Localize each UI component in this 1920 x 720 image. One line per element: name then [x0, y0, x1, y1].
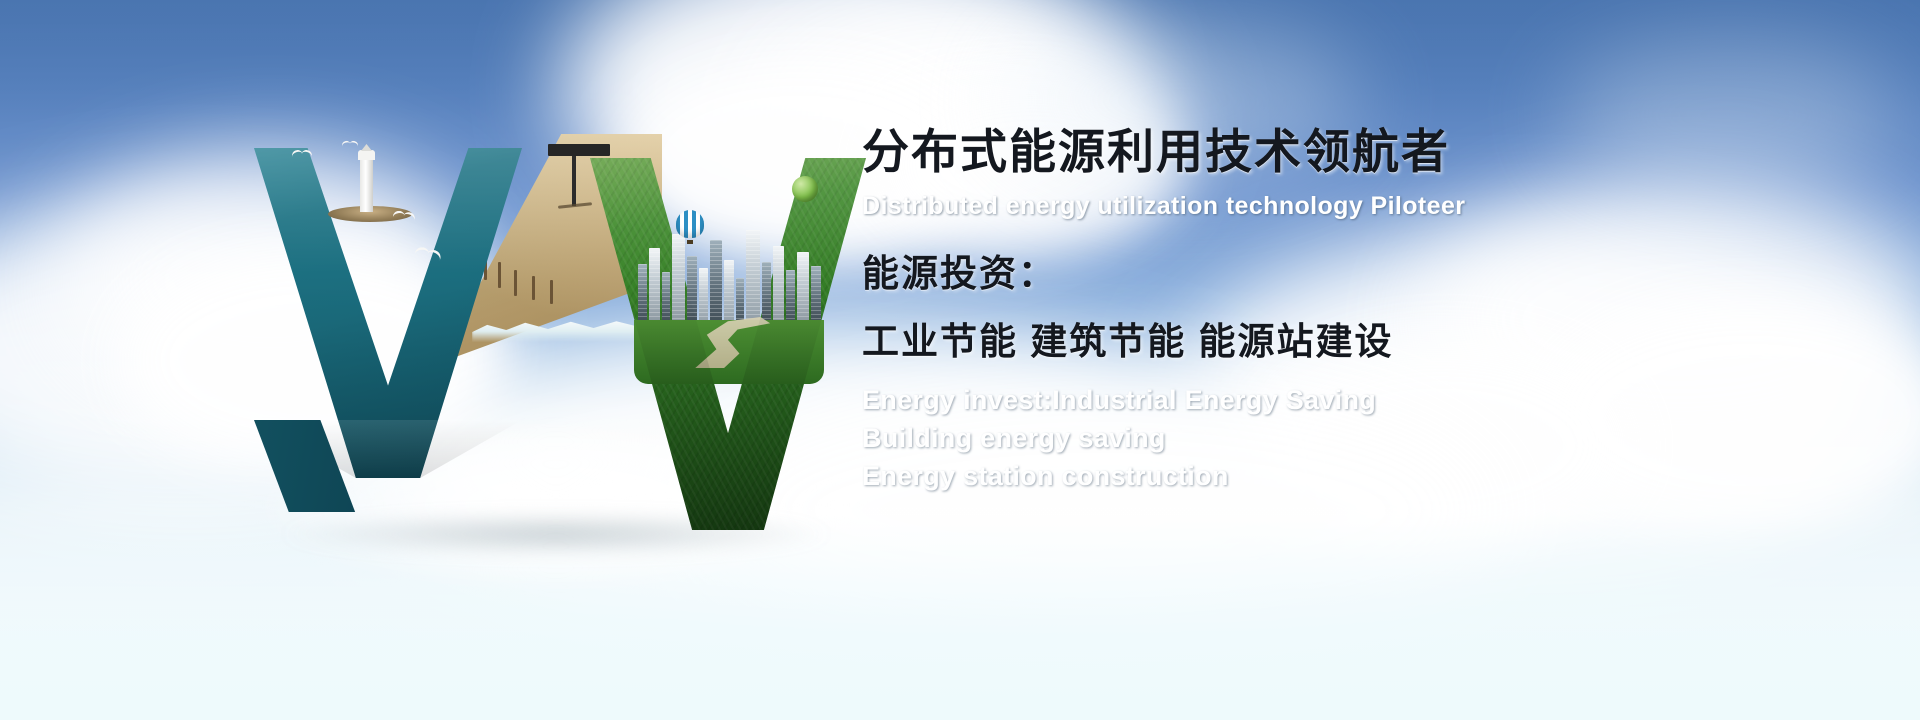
building: [736, 278, 744, 326]
fence-post: [514, 270, 517, 296]
services-english-list: Energy invest:Industrial Energy Saving B…: [862, 381, 1882, 496]
building: [746, 230, 760, 326]
services-english-line: Energy invest:Industrial Energy Saving: [862, 381, 1882, 419]
fence-post: [498, 262, 501, 288]
banner-copy: 分布式能源利用技术领航者 Distributed energy utilizat…: [862, 126, 1882, 496]
section-label: 能源投资：: [862, 243, 1882, 297]
building: [724, 260, 734, 326]
signpost-board: [548, 144, 610, 156]
building: [710, 240, 722, 326]
services-chinese: 工业节能 建筑节能 能源站建设: [862, 311, 1882, 365]
signpost-pole: [572, 148, 576, 206]
hero-banner: 分布式能源利用技术领航者 Distributed energy utilizat…: [0, 0, 1920, 720]
seagull-icon: [392, 210, 415, 223]
seagull-icon: [342, 141, 358, 148]
fence-post: [550, 280, 553, 304]
balloon-envelope: [676, 210, 704, 238]
lighthouse-tower: [360, 158, 373, 212]
lighthouse-roof: [361, 144, 372, 151]
services-english-line: Building energy saving: [862, 419, 1882, 457]
building: [699, 268, 708, 326]
page-title: 分布式能源利用技术领航者: [862, 126, 1882, 179]
fence-post: [532, 276, 535, 300]
hot-air-balloon-icon: [676, 210, 704, 244]
subtitle-english: Distributed energy utilization technolog…: [862, 192, 1882, 221]
green-globe-icon: [792, 176, 818, 202]
balloon-basket: [687, 240, 693, 244]
services-english-line: Energy station construction: [862, 457, 1882, 495]
lighthouse-lamp-room: [358, 150, 375, 160]
w-letter-artwork: [236, 120, 876, 550]
seagull-icon: [292, 150, 312, 159]
